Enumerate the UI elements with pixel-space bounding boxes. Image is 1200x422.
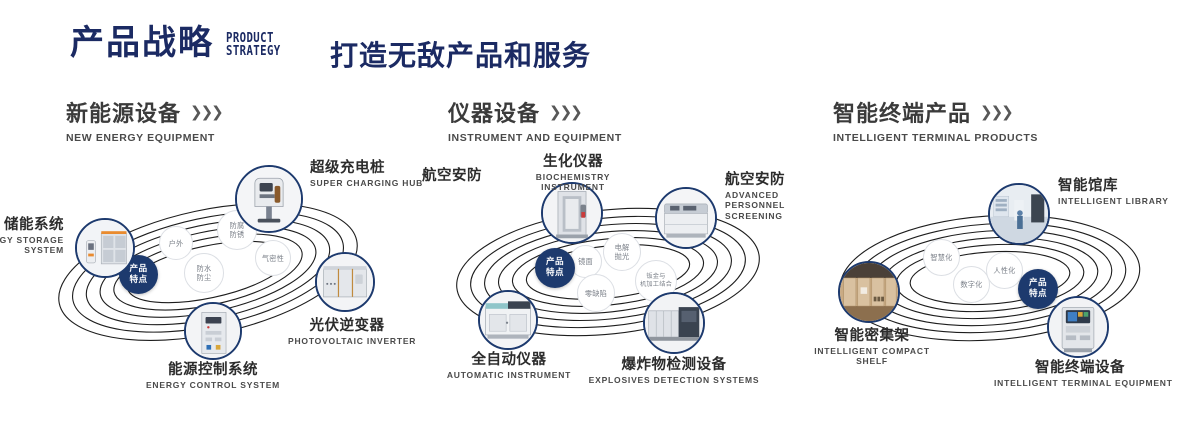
feature-bubble-label: 镜面 [578, 257, 593, 266]
library-interior-icon [990, 185, 1048, 243]
cluster-instrument-and-equipment: 镜面 电解 抛光 零缺陷 钣金与 机加工结合 产品特点 [400, 150, 820, 400]
node-label-en: AUTOMATIC INSTRUMENT [438, 370, 580, 381]
node-label-cn: 储能系统 [0, 217, 64, 234]
node-intelligent-library[interactable] [988, 183, 1050, 245]
screening-machine-icon [657, 189, 715, 247]
feature-bubble: 电解 抛光 [603, 233, 641, 271]
section-heading-new-energy: 新能源设备 ❯❯❯ NEW ENERGY EQUIPMENT [66, 96, 222, 144]
core-bubble-label: 产品特点 [542, 257, 568, 278]
feature-bubble: 智慧化 [923, 239, 960, 276]
product-strategy-infographic: 产品战略 PRODUCT STRATEGY 打造无敌产品和服务 新能源设备 ❯❯… [0, 0, 1200, 422]
node-photovoltaic-inverter[interactable] [315, 252, 375, 312]
node-label-en: INTELLIGENT TERMINAL EQUIPMENT [994, 378, 1166, 389]
feature-bubble-label: 人性化 [993, 266, 1015, 275]
feature-bubble-label: 电解 抛光 [615, 243, 630, 261]
compact-shelf-icon [840, 263, 898, 321]
node-label-cn: 光伏逆变器 [288, 318, 406, 335]
charging-pile-icon [237, 167, 301, 231]
node-intelligent-terminal-equipment[interactable] [1047, 296, 1109, 358]
node-label-cn: 全自动仪器 [438, 352, 580, 369]
core-bubble-label: 产品特点 [1025, 278, 1051, 299]
node-label-photovoltaic-inverter: 光伏逆变器 PHOTOVOLTAIC INVERTER [288, 318, 406, 346]
feature-bubble: 人性化 [986, 252, 1023, 289]
feature-bubble: 气密性 [255, 240, 291, 276]
feature-bubble-label: 钣金与 机加工结合 [640, 273, 672, 289]
pv-inverter-cabinet-icon [317, 254, 373, 310]
node-label-cn: 智能密集架 [812, 328, 932, 345]
feature-bubble: 数字化 [953, 266, 990, 303]
node-label-intelligent-terminal-equipment: 智能终端设备 INTELLIGENT TERMINAL EQUIPMENT [994, 360, 1166, 388]
node-label-cn: 生化仪器 [518, 154, 628, 171]
page-title-en-line2: STRATEGY [226, 45, 281, 58]
node-label-en: EXPLOSIVES DETECTION SYSTEMS [586, 375, 762, 386]
feature-bubble: 零缺陷 [577, 274, 615, 312]
node-automatic-instrument[interactable] [478, 290, 538, 350]
node-label-intelligent-compact-shelf: 智能密集架 INTELLIGENT COMPACT SHELF [812, 328, 932, 367]
feature-bubble-label: 户外 [169, 239, 184, 248]
node-energy-storage-system[interactable] [75, 218, 135, 278]
section-heading-label: 智能终端产品 [833, 96, 971, 128]
chevron-right-icon: ❯❯❯ [549, 103, 581, 121]
feature-bubble-label: 数字化 [960, 280, 982, 289]
feature-bubble: 户外 [159, 226, 193, 260]
node-label-energy-control-system: 能源控制系统 ENERGY CONTROL SYSTEM [128, 362, 298, 390]
control-cabinet-icon [186, 304, 240, 358]
chevron-right-icon: ❯❯❯ [980, 103, 1012, 121]
node-label-cn: 智能终端设备 [994, 360, 1166, 377]
energy-storage-cabinet-icon [77, 220, 133, 276]
node-label-en: INTELLIGENT LIBRARY [1058, 196, 1169, 207]
page-header: 产品战略 PRODUCT STRATEGY [70, 26, 293, 60]
feature-bubble-label: 零缺陷 [585, 289, 607, 298]
self-service-kiosk-icon [1049, 298, 1107, 356]
section-heading-cn: 智能终端产品 ❯❯❯ [833, 96, 1038, 128]
node-intelligent-compact-shelf[interactable] [838, 261, 900, 323]
core-bubble-product-features: 产品特点 [535, 248, 575, 288]
node-label-aviation-security-left: 航空安防 [392, 168, 482, 185]
node-label-biochemistry-instrument: 生化仪器 BIOCHEMISTRY INSTRUMENT [518, 154, 628, 193]
feature-bubble-label: 防水 防尘 [197, 264, 212, 282]
page-title-cn: 产品战略 [70, 26, 214, 60]
section-heading-cn: 仪器设备 ❯❯❯ [448, 96, 622, 128]
section-heading-label: 仪器设备 [448, 96, 540, 128]
node-label-en: INTELLIGENT COMPACT SHELF [812, 346, 932, 367]
node-label-en: BIOCHEMISTRY INSTRUMENT [518, 172, 628, 193]
node-energy-control-system[interactable] [184, 302, 242, 360]
section-heading-instrument: 仪器设备 ❯❯❯ INSTRUMENT AND EQUIPMENT [448, 96, 622, 144]
node-label-explosives-detection-systems: 爆炸物检测设备 EXPLOSIVES DETECTION SYSTEMS [586, 357, 762, 385]
section-heading-en: INSTRUMENT AND EQUIPMENT [448, 132, 622, 144]
node-explosives-detection-systems[interactable] [643, 292, 705, 354]
section-heading-cn: 新能源设备 ❯❯❯ [66, 96, 222, 128]
cluster-new-energy-equipment: 户外 防腐 防锈 防水 防尘 气密性 产品特点 [0, 150, 420, 400]
node-super-charging-hub[interactable] [235, 165, 303, 233]
section-heading-en: NEW ENERGY EQUIPMENT [66, 132, 222, 144]
section-heading-label: 新能源设备 [66, 96, 181, 128]
page-title-en: PRODUCT STRATEGY [226, 32, 281, 58]
node-label-cn: 智能馆库 [1058, 178, 1169, 195]
node-label-automatic-instrument: 全自动仪器 AUTOMATIC INSTRUMENT [438, 352, 580, 380]
node-label-intelligent-library: 智能馆库 INTELLIGENT LIBRARY [1058, 178, 1169, 206]
section-heading-intelligent-terminal: 智能终端产品 ❯❯❯ INTELLIGENT TERMINAL PRODUCTS [833, 96, 1038, 144]
feature-bubble-label: 智慧化 [930, 253, 952, 262]
node-label-en: ENERGY STORAGE SYSTEM [0, 235, 64, 256]
automatic-analyzer-icon [480, 292, 536, 348]
node-label-en: ENERGY CONTROL SYSTEM [128, 380, 298, 391]
explosives-detector-icon [645, 294, 703, 352]
node-advanced-personnel-screening[interactable] [655, 187, 717, 249]
section-heading-en: INTELLIGENT TERMINAL PRODUCTS [833, 132, 1038, 144]
feature-bubble: 防水 防尘 [184, 253, 224, 293]
node-label-cn: 爆炸物检测设备 [586, 357, 762, 374]
chevron-right-icon: ❯❯❯ [190, 103, 222, 121]
cluster-intelligent-terminal-products: 智慧化 数字化 人性化 产品特点 [790, 150, 1200, 400]
node-label-energy-storage-system: 储能系统 ENERGY STORAGE SYSTEM [0, 217, 64, 256]
node-label-cn: 航空安防 [392, 168, 482, 185]
node-label-en: PHOTOVOLTAIC INVERTER [288, 336, 406, 347]
node-label-cn: 能源控制系统 [128, 362, 298, 379]
page-slogan: 打造无敌产品和服务 [330, 34, 591, 74]
feature-bubble-label: 气密性 [262, 254, 284, 263]
